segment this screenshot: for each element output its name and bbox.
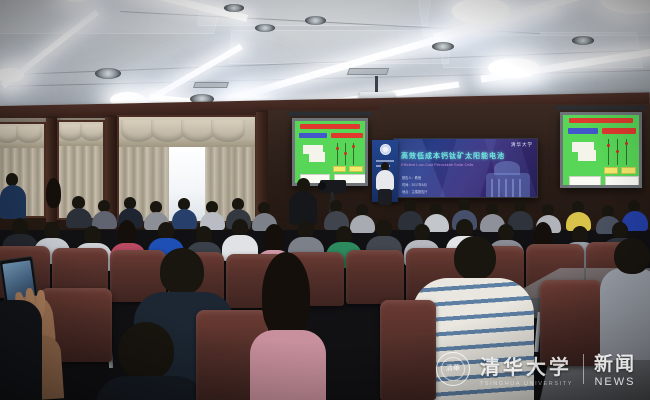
front-attendee-torso-2	[96, 376, 206, 400]
slide-meta-line-2: 时间：2017年6月	[402, 182, 427, 187]
right-projection-screen	[560, 112, 642, 188]
watermark: 清華 清华大学 TSINGHUA UNIVERSITY 新闻 NEWS	[436, 349, 636, 388]
front-attendee-head-3	[454, 236, 496, 280]
slide-subtitle: Efficient Low-Cost Perovskite Solar Cell…	[401, 162, 473, 167]
watermark-news-block: 新闻 NEWS	[594, 349, 636, 388]
watermark-divider	[583, 354, 584, 384]
lecture-hall-photo: 清华大学 高效低成本钙钛矿太阳能电池 Efficient Low-Cost Pe…	[0, 0, 650, 400]
banner-crest-icon	[380, 144, 391, 155]
left-projection-screen	[292, 118, 368, 186]
speaker-legs	[378, 189, 392, 205]
slide-title: 高效低成本钙钛矿太阳能电池	[401, 151, 505, 161]
standing-woman-hair	[46, 178, 61, 208]
front-attendee-torso-right	[250, 330, 326, 400]
front-attendee-hair-right	[262, 252, 310, 338]
watermark-university-block: 清华大学 TSINGHUA UNIVERSITY	[480, 351, 573, 387]
left-slide-content	[295, 121, 365, 183]
watermark-university-en: TSINGHUA UNIVERSITY	[480, 381, 573, 387]
standing-attendee-torso	[0, 185, 26, 219]
speaker-torso	[376, 170, 394, 190]
front-attendee-head-2	[118, 322, 174, 380]
front-attendee-torso-4	[600, 268, 650, 360]
camera-lens-icon	[318, 182, 326, 190]
center-projection-screen: 清华大学 高效低成本钙钛矿太阳能电池 Efficient Low-Cost Pe…	[393, 138, 538, 198]
front-attendee-head-4	[614, 238, 650, 274]
camera-operator-torso	[289, 191, 317, 225]
tsinghua-emblem-icon: 清華	[436, 352, 470, 386]
recorder-shoulder	[0, 300, 42, 400]
slide-meta-line-1: 报告人：教授	[402, 175, 421, 180]
slide-logo-text: 清华大学	[511, 142, 533, 148]
center-slide-content: 清华大学 高效低成本钙钛矿太阳能电池 Efficient Low-Cost Pe…	[394, 139, 537, 197]
emblem-label: 清華	[446, 365, 460, 372]
right-screen-roller	[556, 106, 646, 110]
front-attendee-head-1	[160, 248, 204, 294]
watermark-university-cn: 清华大学	[480, 351, 573, 380]
front-seat-center	[380, 300, 436, 400]
left-screen-roller	[288, 112, 372, 116]
watermark-news-cn: 新闻	[594, 349, 636, 376]
right-slide-content	[563, 115, 639, 185]
slide-meta-line-3: 地点：主楼报告厅	[402, 189, 428, 194]
camera-operator-head	[297, 178, 310, 192]
watermark-news-en: NEWS	[594, 376, 636, 388]
